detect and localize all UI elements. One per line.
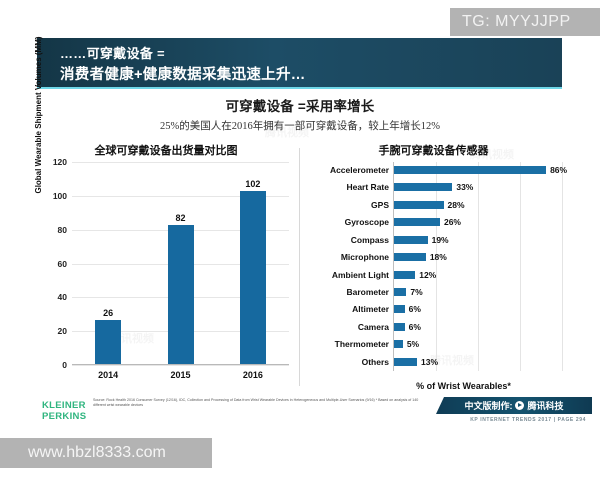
bar: [240, 191, 266, 364]
chart-row: Thermometer5%: [305, 336, 560, 353]
chart-row: Others13%: [305, 354, 560, 371]
page-subtitle: 25%的美国人在2016年拥有一部可穿戴设备，较上年增长12%: [0, 118, 600, 133]
top-right-watermark-text: TG: MYYJJPP: [462, 13, 571, 31]
bar: [394, 166, 546, 174]
chart-row: Ambient Light12%: [305, 267, 560, 284]
bar-value-label: 102: [233, 179, 273, 189]
bar: [168, 225, 194, 364]
bar: [394, 271, 415, 279]
y-axis-tick-label: 20: [58, 326, 67, 336]
category-label: Gyroscope: [305, 214, 389, 230]
logo-line-1: KLEINER: [42, 400, 86, 411]
bar-value-label: 33%: [456, 179, 473, 195]
logo-line-2: PERKINS: [42, 411, 86, 422]
chart-divider: [299, 148, 300, 386]
bar-value-label: 18%: [430, 249, 447, 265]
bar: [95, 320, 121, 364]
chart-plot-right: Accelerometer86%Heart Rate33%GPS28%Gyros…: [305, 162, 560, 371]
bar-value-label: 7%: [410, 284, 422, 300]
category-label: Camera: [305, 319, 389, 335]
bar: [394, 305, 405, 313]
chart-row: Heart Rate33%: [305, 179, 560, 196]
category-label: Compass: [305, 232, 389, 248]
bar-value-label: 28%: [448, 197, 465, 213]
y-axis-tick-label: 60: [58, 259, 67, 269]
chart-row: Altimeter6%: [305, 301, 560, 318]
tencent-badge: 中文版制作: 腾讯科技: [436, 397, 592, 414]
bar-value-label: 19%: [432, 232, 449, 248]
y-axis-tick-label: 80: [58, 225, 67, 235]
bar: [394, 358, 417, 366]
x-axis-tick-label: 2014: [85, 370, 131, 380]
category-label: Others: [305, 354, 389, 370]
chart-xlabel-right: % of Wrist Wearables*: [365, 381, 562, 391]
category-label: Ambient Light: [305, 267, 389, 283]
chart-row: Camera6%: [305, 319, 560, 336]
y-axis-tick-label: 120: [53, 157, 67, 167]
category-label: Heart Rate: [305, 179, 389, 195]
page-title: 可穿戴设备 =采用率增长: [0, 95, 600, 115]
bar-value-label: 6%: [409, 319, 421, 335]
chart-row: Compass19%: [305, 232, 560, 249]
x-axis-tick-label: 2016: [230, 370, 276, 380]
category-label: Thermometer: [305, 336, 389, 352]
chart-ylabel-left: Global Wearable Shipment Volumes (MM): [34, 20, 43, 210]
category-label: Accelerometer: [305, 162, 389, 178]
site-watermark-text: www.hbzl8333.com: [28, 444, 166, 462]
y-axis-tick-label: 0: [62, 360, 67, 370]
category-label: GPS: [305, 197, 389, 213]
chart-wrist-wearable-sensors: 手腕可穿戴设备传感器 Accelerometer86%Heart Rate33%…: [305, 140, 562, 395]
top-right-watermark: TG: MYYJJPP: [450, 8, 600, 36]
category-label: Altimeter: [305, 301, 389, 317]
header-band: ……可穿戴设备 = 消费者健康+健康数据采集迅速上升…: [37, 38, 562, 89]
header-line-2: 消费者健康+健康数据采集迅速上升…: [60, 64, 562, 87]
bar: [394, 340, 403, 348]
bar-value-label: 26: [88, 308, 128, 318]
y-axis-tick-label: 40: [58, 292, 67, 302]
category-label: Barometer: [305, 284, 389, 300]
chart-row: Barometer7%: [305, 284, 560, 301]
site-watermark: www.hbzl8333.com: [0, 438, 212, 468]
y-axis-tick-label: 100: [53, 191, 67, 201]
gridline: [72, 365, 289, 366]
kleiner-perkins-logo: KLEINER PERKINS: [42, 400, 86, 422]
chart-global-wearable-shipments: 全球可穿戴设备出货量对比图 Global Wearable Shipment V…: [37, 140, 295, 395]
bar-value-label: 13%: [421, 354, 438, 370]
bar: [394, 218, 440, 226]
category-label: Microphone: [305, 249, 389, 265]
bar: [394, 323, 405, 331]
chart-row: GPS28%: [305, 197, 560, 214]
bar: [394, 253, 426, 261]
slide-canvas: 腾讯视频 腾讯视频 腾讯视频 腾讯视频 TG: MYYJJPP ……可穿戴设备 …: [0, 0, 600, 480]
gridline: [72, 162, 289, 163]
kp-trends-note: KP INTERNET TRENDS 2017 | PAGE 294: [470, 417, 586, 423]
source-note: Source: Rock Health 2016 Consumer Survey…: [93, 398, 423, 409]
bar-value-label: 5%: [407, 336, 419, 352]
bar-value-label: 12%: [419, 267, 436, 283]
chart-title-right: 手腕可穿戴设备传感器: [305, 142, 562, 158]
bar: [394, 288, 406, 296]
bar-value-label: 82: [161, 213, 201, 223]
chart-axis-left: [72, 364, 289, 365]
bar-value-label: 86%: [550, 162, 567, 178]
bar: [394, 183, 452, 191]
chart-row: Microphone18%: [305, 249, 560, 266]
chart-plot-left: 020406080100120 2682102 201420152016: [72, 162, 289, 365]
gridline: [562, 162, 563, 371]
x-axis-tick-label: 2015: [158, 370, 204, 380]
tencent-logo-icon: [515, 401, 524, 410]
chart-row: Accelerometer86%: [305, 162, 560, 179]
bar: [394, 201, 444, 209]
chart-row: Gyroscope26%: [305, 214, 560, 231]
bar: [394, 236, 428, 244]
charts-container: 全球可穿戴设备出货量对比图 Global Wearable Shipment V…: [37, 140, 562, 395]
tencent-badge-brand: 腾讯科技: [527, 399, 563, 412]
header-line-1: ……可穿戴设备 =: [60, 43, 562, 64]
bar-value-label: 26%: [444, 214, 461, 230]
tencent-badge-label: 中文版制作:: [464, 399, 512, 412]
chart-title-left: 全球可穿戴设备出货量对比图: [37, 142, 295, 158]
bar-value-label: 6%: [409, 301, 421, 317]
